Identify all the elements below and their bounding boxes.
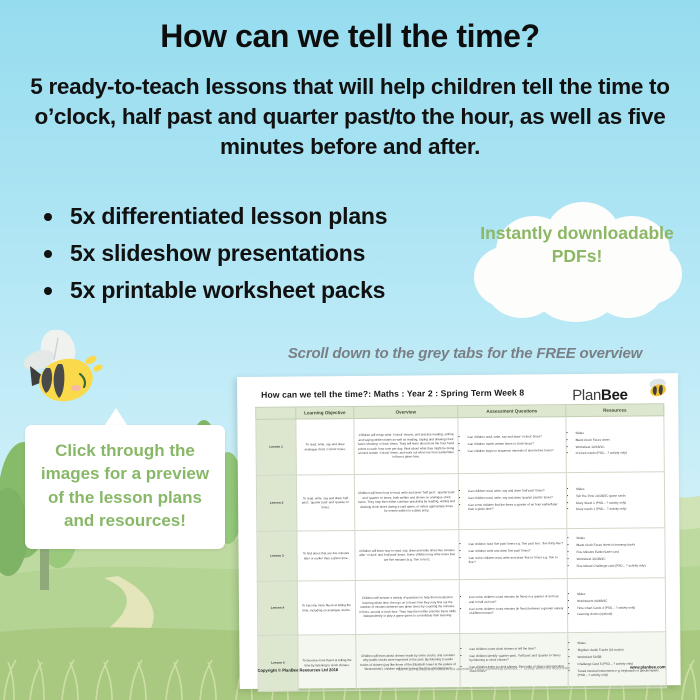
list-item: Can some children read, write and draw ‘… <box>469 555 564 565</box>
lesson-overview-document[interactable]: How can we tell the time?: Maths : Year … <box>237 373 681 689</box>
list-item: Five Minute Challenge card (PSD... ? act… <box>577 563 662 568</box>
list-item: Time Chart Cards 4 (PSD... ? activity on… <box>577 605 662 610</box>
list-item: Can children begin to sequence intervals… <box>468 448 563 453</box>
list-item: Diary Sheet 1 (PSD... ? activity only) <box>576 500 661 505</box>
list-item: Tell The Time 2A/2B/2C game cards <box>576 493 661 498</box>
learning-objective-cell: To read, write, say and draw ‘half past’… <box>296 474 354 531</box>
list-item: Blank Clock Faces sheet <box>576 437 661 442</box>
list-item: Can children read ‘five past’ times e.g.… <box>468 541 563 546</box>
list-item: 5x printable worksheet packs <box>40 279 460 302</box>
column-header-overview: Overview <box>354 406 458 419</box>
resources-cell: Slides‘Big Ben’ Audio Tracks (16 tracks)… <box>568 632 666 689</box>
list-item: Learning clocks (optional) <box>577 612 662 617</box>
column-header-learning-objective: Learning Objective <box>296 406 354 419</box>
lesson-label: Lesson 1 <box>256 419 296 475</box>
assessment-questions-cell: Can some children count minutes (in five… <box>459 579 567 634</box>
list-item: Can some children find the times a quart… <box>468 502 563 512</box>
cloud-badge: Instantly downloadable PDFs! <box>468 200 686 324</box>
list-item: ‘Big Ben’ Audio Tracks (16 tracks) <box>577 647 662 652</box>
feature-list: 5x differentiated lesson plans 5x slides… <box>40 205 460 316</box>
header-spacer <box>256 407 296 419</box>
resources-cell: SlidesBlank Clock Faces sheetWorksheet 1… <box>566 416 664 473</box>
overview-cell: Children will learn about chimes made by… <box>356 634 460 691</box>
page-subtitle: 5 ready-to-teach lessons that will help … <box>26 72 674 162</box>
list-item: Can some children count minutes (in five… <box>469 606 564 616</box>
table-row: Lesson 3To find times that are five minu… <box>257 528 665 582</box>
column-header-assessment-questions: Assessment Questions <box>458 405 566 418</box>
document-title: How can we tell the time?: Maths : Year … <box>261 387 524 399</box>
list-item: Can children match written times to cloc… <box>468 441 563 446</box>
preview-callout[interactable]: Click through the images for a preview o… <box>25 425 225 549</box>
lesson-label: Lesson 2 <box>256 475 296 531</box>
list-item: Can children read, write, say and draw ‘… <box>468 434 563 439</box>
lesson-label: Lesson 3 <box>257 531 297 581</box>
table-row: Lesson 5To become more fluent at telling… <box>258 632 666 692</box>
learning-objective-cell: To read, write, say and draw analogue cl… <box>296 418 354 475</box>
list-item: Slides <box>575 430 660 435</box>
list-item: Can children write and draw ‘five past’ … <box>469 548 564 553</box>
list-item: Worksheet 1A/1B/1C <box>576 444 661 449</box>
resources-cell: SlidesBlank Clock Faces sheet in learnin… <box>567 528 665 579</box>
logo-plain: Plan <box>572 387 601 404</box>
page-title: How can we tell the time? <box>0 18 700 55</box>
learning-objective-cell: To find times that are five minutes late… <box>297 530 355 581</box>
bee-icon <box>644 378 670 398</box>
overview-cell: Children will answer a variety of questi… <box>355 580 459 635</box>
overview-cell: Children will learn how to read, say, dr… <box>355 530 459 581</box>
scroll-hint: Scroll down to the grey tabs for the FRE… <box>250 345 680 362</box>
assessment-questions-cell: Can children read, write, say and draw ‘… <box>458 417 566 474</box>
list-item: Slides <box>577 640 662 645</box>
footer-copyright: Copyright © PlanBee Resources Ltd 2018 <box>258 667 339 673</box>
list-item: 5x differentiated lesson plans <box>40 205 460 228</box>
overview-cell: Children will learn how to read, write a… <box>354 474 458 531</box>
cloud-badge-text: Instantly downloadable PDFs! <box>468 222 686 268</box>
list-item: O’Clock Cards (PSD... ? activity only) <box>576 451 661 456</box>
assessment-questions-cell: Can children read ‘five past’ times e.g.… <box>459 529 567 580</box>
list-item: Worksheet 3A/3B/3C <box>577 556 662 561</box>
list-item: Worksheet 5A/5B <box>577 654 662 659</box>
list-item: Can children read, write, say and draw ‘… <box>468 495 563 500</box>
list-item: Can children identify ‘quarter past’, ‘h… <box>469 653 564 663</box>
resources-cell: SlidesWorksheets 4A/4B/4CTime Chart Card… <box>567 578 665 633</box>
logo-bold: Bee <box>601 387 628 404</box>
planbee-logo-text: PlanBee <box>572 387 628 404</box>
lesson-label: Lesson 5 <box>258 635 298 691</box>
column-header-resources: Resources <box>566 404 664 417</box>
lesson-label: Lesson 4 <box>257 581 297 635</box>
table-row: Lesson 1To read, write, say and draw ana… <box>256 416 664 476</box>
learning-objective-cell: To become more fluent at telling the tim… <box>297 580 355 635</box>
list-item: Blank Clock Faces sheet in learning cloc… <box>576 542 661 547</box>
list-item: Slides <box>576 535 661 540</box>
lesson-plan-table: Learning Objective Overview Assessment Q… <box>255 403 666 692</box>
list-item: Diary Cards 1 (PSD... ? activity only) <box>576 507 661 512</box>
list-item: Worksheets 4A/4B/4C <box>577 598 662 603</box>
list-item: Slides <box>576 486 661 491</box>
resources-cell: SlidesTell The Time 2A/2B/2C game cardsD… <box>566 472 664 529</box>
list-item: Slides <box>577 591 662 596</box>
list-item: Five Minutes Earlier/Later card <box>577 549 662 554</box>
assessment-questions-cell: Can children count clock chimes to tell … <box>460 633 568 690</box>
learning-objective-cell: To become more fluent at telling the tim… <box>298 634 356 691</box>
table-row: Lesson 4To become more fluent at telling… <box>257 578 665 636</box>
overview-cell: Children will recap what ‘o’clock’ means… <box>354 418 458 475</box>
bee-icon <box>18 330 110 410</box>
list-item: Can children read, write, say and draw ‘… <box>468 488 563 493</box>
list-item: Can children count clock chimes to tell … <box>469 646 564 651</box>
table-row: Lesson 2To read, write, say and draw ‘ha… <box>256 472 664 532</box>
list-item: Can some children count minutes (in five… <box>469 594 564 604</box>
footer-website[interactable]: www.planbee.com <box>630 664 666 669</box>
assessment-questions-cell: Can children read, write, say and draw ‘… <box>458 473 566 530</box>
list-item: 5x slideshow presentations <box>40 242 460 265</box>
